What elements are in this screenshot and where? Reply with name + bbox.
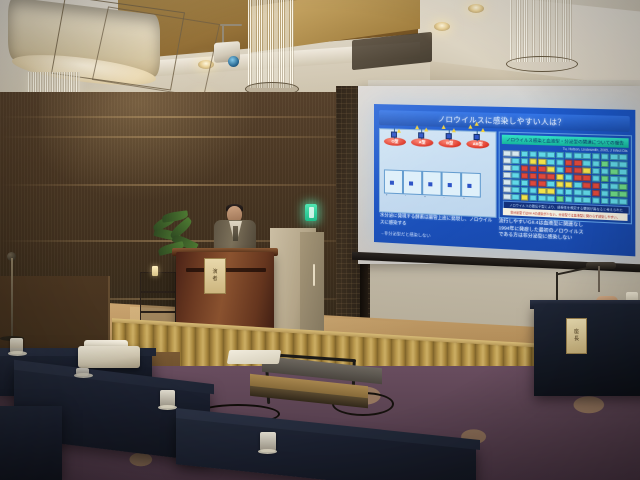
slide-grid-cell [512,186,520,193]
slide-grid-cell [592,160,600,167]
slide-grid-cell [503,179,511,186]
chair-table-nameplate: 座 長 [566,318,587,354]
slide-grid-cell [547,180,555,187]
secretor-label: - [405,194,406,197]
slide-grid-cell [556,195,564,202]
slide-grid-cell [610,168,618,175]
slide-grid-cell [610,176,618,183]
conference-hall-photo: ノロウイルスに感染しやすい人は？ O型 A型 B型 [0,0,640,480]
slide-grid-cell [565,174,573,181]
slide-grid-cell [619,169,628,176]
slide-grid-cell [556,152,564,159]
slide-grid-cell [601,168,609,175]
slide-grid-cell [583,182,591,189]
chairperson-table [534,304,640,396]
slide-grid-cell [520,165,528,172]
emergency-exit-sign [305,204,317,221]
slide-grid-cell [619,183,628,190]
slide-grid-cell [529,173,537,180]
secretor-label: + [424,195,426,198]
screen-cable [598,266,600,292]
slide-grid-cell [529,194,537,201]
slide-grid-cell [610,183,618,190]
downlight-icon [468,4,484,13]
slide-grid-cell [583,167,591,174]
slide-grid-cell [529,180,537,187]
slide-grid-cell [601,197,609,204]
projector-lens-icon [228,56,239,67]
slide-grid-cell [619,191,628,198]
slide-grid-cell [610,161,618,168]
chair-sign-char-top: 座 [574,330,579,335]
slide-grid-cell [503,164,511,171]
slide-grid-cell [512,150,520,157]
slide-grid-cell [619,161,628,168]
table-projector [78,346,140,368]
slide-grid-cell [601,161,609,168]
slide-grid-cell [574,189,582,196]
slide-grid-cell [574,167,582,174]
downlight-icon [434,22,450,31]
projected-slide: ノロウイルスに感染しやすい人は？ O型 A型 B型 [374,104,635,256]
slide-grid-cell [556,166,564,173]
slide-grid-cell [583,160,591,167]
slide-grid-cell [619,154,628,161]
slide-grid-cell [529,151,537,158]
secretor-label: + [463,197,465,200]
slide-grid-cell [583,189,591,196]
chair-sign-char-bottom: 長 [574,337,579,342]
slide-grid-cell [592,197,600,204]
slide-grid-cell [556,159,564,166]
screen-mount-bracket [586,262,616,269]
slide-left-caption-2: →非分泌型だと感染しない [380,230,494,242]
slide-grid-cell [512,158,520,165]
slide-grid-cell [503,193,511,200]
slide-grid-cell [520,187,528,194]
slide-grid-cell [547,188,555,195]
slide-grid-cell [574,182,582,189]
slide-grid-cell [565,196,573,203]
slide-right-table-panel: ノロウイルス感染と血液型・分泌型の関連についての報告 Tu, Hutson, L… [499,132,632,225]
slide-grid-cell [538,187,546,194]
slide-grid-cell [565,188,573,195]
slide-grid-cell [547,159,555,166]
slide-grid-cell [512,179,520,186]
slide-grid-cell [547,152,555,159]
slide-grid-cell [565,159,573,166]
slide-grid-cell [538,159,546,166]
chandelier-crystals [510,0,572,62]
slide-grid-cell [538,151,546,158]
slide-grid-cell [520,151,528,158]
slide-grid-cell [574,152,582,159]
water-glass [260,432,276,452]
secretor-label: - [444,196,445,199]
slide-grid-cell [520,158,528,165]
water-glass [76,368,89,376]
podium-panel-line [186,268,266,272]
slide-grid-cell [574,196,582,203]
podium-sign-char-bottom: 者 [212,277,217,282]
slide-grid-cell [592,190,600,197]
slide-grid-cell [592,182,600,189]
slide-grid-cell [619,198,628,205]
slide-grid-cell [601,190,609,197]
slide-grid-cell [565,181,573,188]
slide-grid-cell [610,154,618,161]
slide-grid-cell [574,160,582,167]
slide-grid-cell [520,194,528,201]
wall-light-glow [40,92,260,202]
slide-grid-cell [583,153,591,160]
slide-grid-cell [601,153,609,160]
chandelier-ring [506,56,578,72]
paper-sheet [227,350,281,364]
slide-grid-cell [503,186,511,193]
slide-grid-cell [592,168,600,175]
slide-grid-cell [547,173,555,180]
slide-grid-cell [601,183,609,190]
slide-data-grid [503,150,628,205]
slide-grid-cell [512,193,520,200]
slide-grid-cell [547,195,555,202]
slide-grid-cell [592,153,600,160]
slide-grid-cell [556,174,564,181]
slide-grid-cell [601,175,609,182]
candle-lamp [152,266,158,276]
slide-grid-cell [520,179,528,186]
slide-grid-cell [547,166,555,173]
slide-grid-cell [556,188,564,195]
slide-grid-cell [512,165,520,172]
slide-right-header: ノロウイルス感染と血液型・分泌型の関連についての報告 [502,135,629,148]
slide-grid-cell [503,150,511,157]
slide-grid-cell [538,180,546,187]
slide-grid-cell [538,166,546,173]
slide-grid-cell [610,190,618,197]
slide-left-diagram-panel: O型 A型 B型 AB型 [379,128,497,218]
slide-grid-cell [565,152,573,159]
microphone-stand [11,258,13,340]
front-table-left [0,406,62,480]
slide-grid-cell [583,196,591,203]
stage-side-door-second[interactable] [300,232,324,336]
slide-grid-cell [503,172,511,179]
slide-grid-cell [556,181,564,188]
slide-grid-cell [565,167,573,174]
podium-sign-char-top: 演 [212,270,217,275]
slide-grid-cell [610,198,618,205]
slide-grid-cell [529,158,537,165]
water-glass [10,338,23,354]
chandelier-crystals [248,0,294,88]
slide-grid-cell [529,165,537,172]
slide-grid-cell [583,175,591,182]
slide-grid-cell [538,173,546,180]
secretor-label: + [386,194,388,197]
water-glass [160,390,175,408]
podium-nameplate: 演 者 [204,258,226,294]
slide-grid-cell [538,195,546,202]
slide-grid-cell [520,172,528,179]
slide-grid-cell [512,172,520,179]
slide-grid-cell [503,157,511,164]
slide-grid-cell [619,176,628,183]
slide-grid-cell [592,175,600,182]
speaker-tie [233,226,238,241]
slide-grid-cell [574,174,582,181]
slide-grid-cell [529,187,537,194]
